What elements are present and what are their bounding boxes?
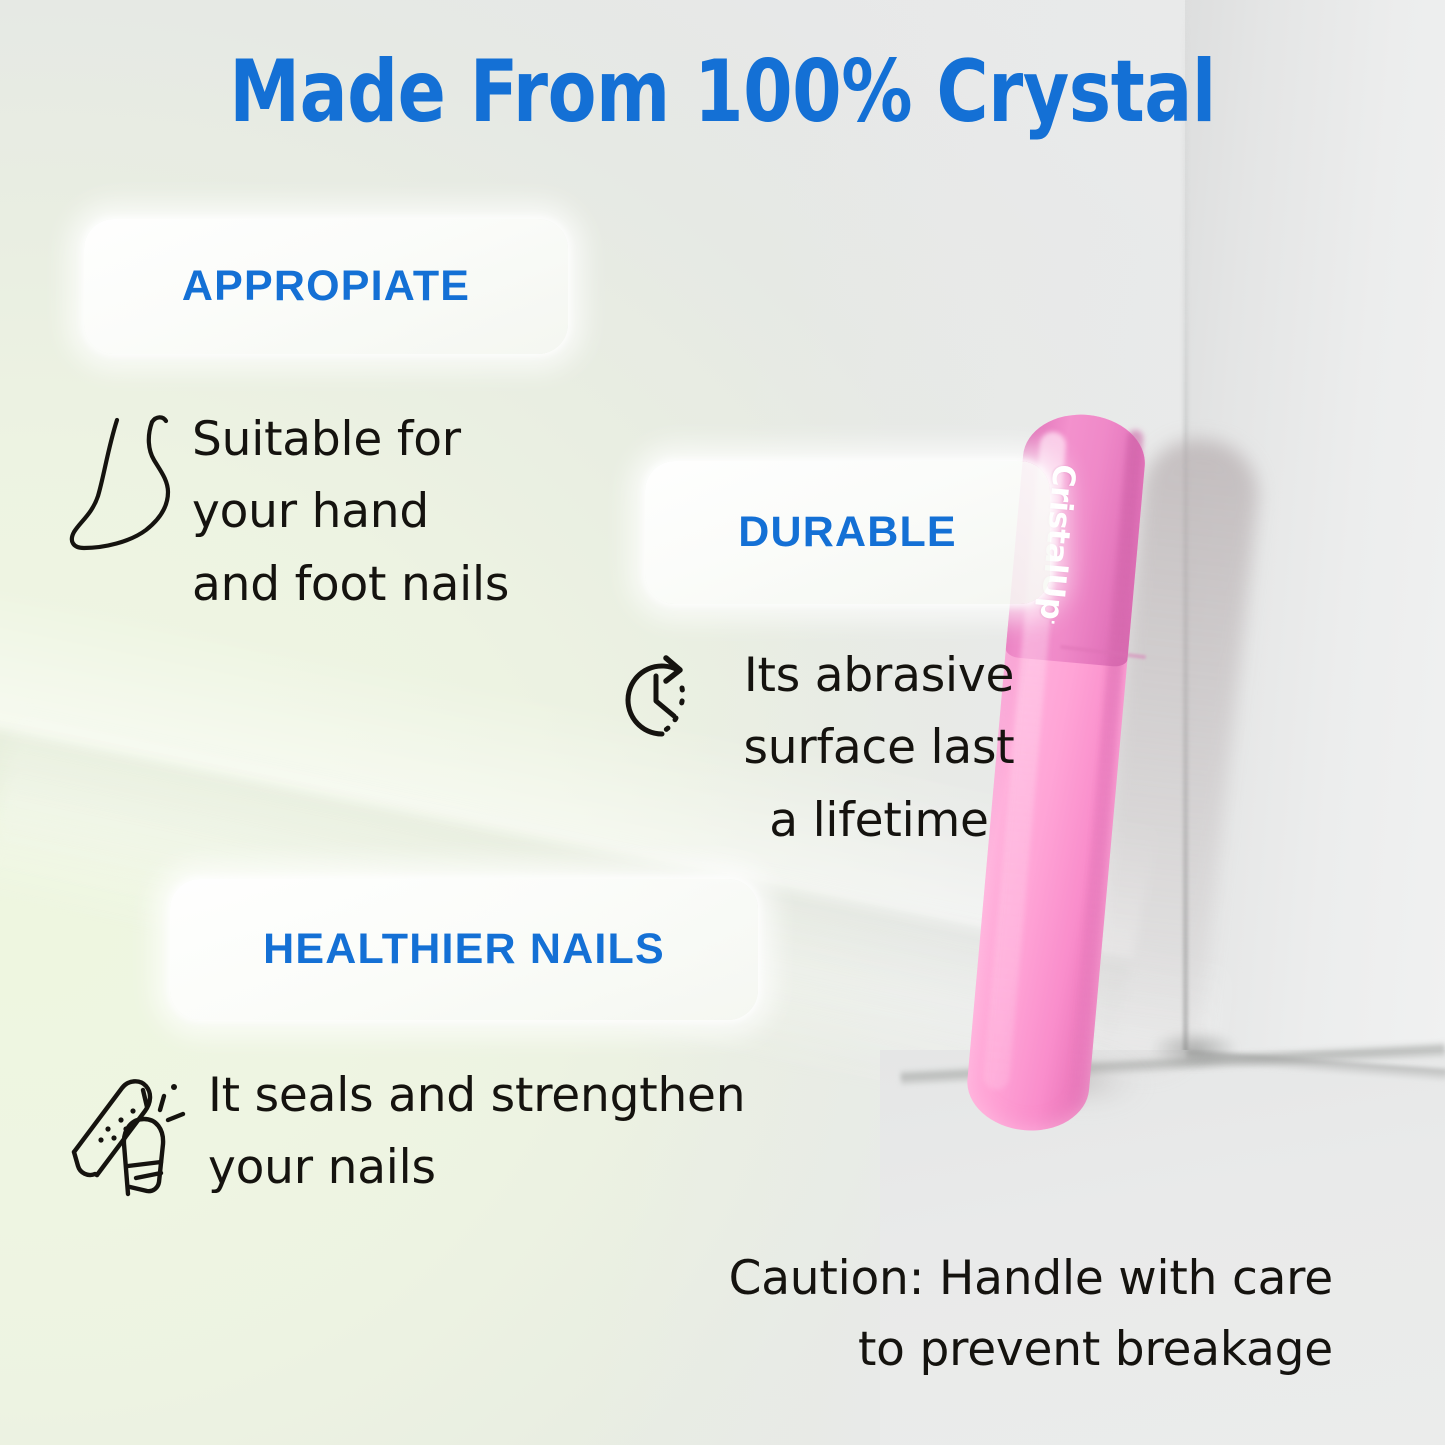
feature-durable-line3: a lifetime: [714, 785, 1044, 857]
feature-healthier-line1: It seals and strengthen: [208, 1060, 745, 1132]
corner-shadow: [1150, 1020, 1260, 1068]
caution-line1: Caution: Handle with care: [613, 1243, 1333, 1314]
wall-panel: [1185, 0, 1445, 1095]
badge-healthier-nails: HEALTHIER NAILS: [170, 879, 758, 1020]
caution-note: Caution: Handle with care to prevent bre…: [613, 1243, 1333, 1386]
foot-icon: [64, 404, 184, 554]
page-title: Made From 100% Crystal: [58, 47, 1387, 137]
page-title-part1: Made From: [229, 42, 694, 142]
badge-appropiate-label: APPROPIATE: [182, 262, 470, 311]
badge-healthier-nails-label: HEALTHIER NAILS: [263, 925, 665, 974]
feature-healthier-nails: It seals and strengthen your nails: [64, 1060, 844, 1205]
feature-durable: Its abrasive surface last a lifetime: [604, 640, 1064, 857]
feature-durable-text: Its abrasive surface last a lifetime: [714, 640, 1044, 857]
caution-line2: to prevent breakage: [613, 1314, 1333, 1385]
feature-appropiate-line3: and foot nails: [192, 549, 509, 621]
feature-appropiate-text: Suitable for your hand and foot nails: [184, 404, 509, 621]
infographic-canvas: CristalUp. Made From 100% Crystal APPROP…: [0, 0, 1445, 1445]
feature-durable-line2: surface last: [714, 712, 1044, 784]
nail-file-sparkle-icon: [64, 1060, 204, 1200]
feature-appropiate-line1: Suitable for: [192, 404, 509, 476]
feature-appropiate: Suitable for your hand and foot nails: [64, 404, 624, 621]
badge-durable-label: DURABLE: [738, 508, 957, 557]
feature-appropiate-line2: your hand: [192, 476, 509, 548]
feature-durable-line1: Its abrasive: [714, 640, 1044, 712]
badge-appropiate: APPROPIATE: [84, 219, 568, 354]
badge-durable: DURABLE: [645, 461, 1050, 604]
page-title-part2: 100% Crystal: [694, 42, 1216, 142]
clock-arrow-icon: [604, 640, 714, 752]
feature-healthier-text: It seals and strengthen your nails: [204, 1060, 745, 1205]
feature-healthier-line2: your nails: [208, 1132, 745, 1204]
wall-corner-edge: [1183, 0, 1188, 1060]
